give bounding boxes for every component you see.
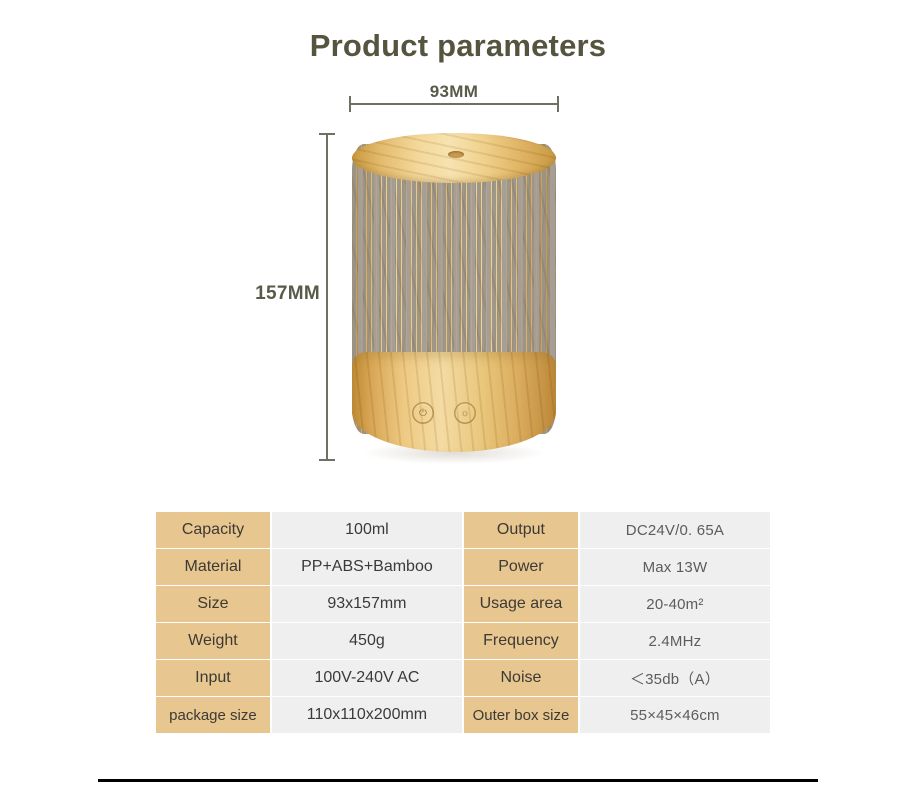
spec-label-package-size: package size [156, 697, 270, 733]
spec-label-frequency: Frequency [464, 623, 578, 659]
table-row: package size 110x110x200mm Outer box siz… [156, 697, 772, 733]
spec-label-outer-box-size: Outer box size [464, 697, 578, 733]
table-row: Capacity 100ml Output DC24V/0. 65A [156, 512, 772, 548]
spec-label-input: Input [156, 660, 270, 696]
product-image: ⏻ ☼ [350, 130, 558, 470]
product-top-lid [352, 133, 556, 183]
bottom-divider [98, 779, 818, 782]
spec-label-size: Size [156, 586, 270, 622]
spec-label-weight: Weight [156, 623, 270, 659]
width-dimension-cap-right [557, 96, 559, 112]
spec-value-input: 100V-240V AC [272, 660, 462, 696]
height-dimension-cap-bottom [319, 459, 335, 461]
spec-label-output: Output [464, 512, 578, 548]
lid-wood-grain-texture [352, 133, 556, 183]
width-dimension-line [349, 103, 559, 105]
light-bulb-icon: ☼ [454, 402, 476, 424]
table-row: Material PP+ABS+Bamboo Power Max 13W [156, 549, 772, 585]
spec-value-usage-area: 20-40m² [580, 586, 770, 622]
spec-value-capacity: 100ml [272, 512, 462, 548]
table-row: Size 93x157mm Usage area 20-40m² [156, 586, 772, 622]
page-title: Product parameters [0, 28, 916, 64]
spec-value-outer-box-size: 55×45×46cm [580, 697, 770, 733]
spec-label-material: Material [156, 549, 270, 585]
height-dimension-cap-top [319, 133, 335, 135]
spec-value-package-size: 110x110x200mm [272, 697, 462, 733]
spec-label-power: Power [464, 549, 578, 585]
spec-value-power: Max 13W [580, 549, 770, 585]
height-dimension-line [326, 134, 328, 461]
spec-value-noise: ＜35db（A） [580, 660, 770, 696]
mist-outlet-icon [448, 151, 464, 158]
spec-label-usage-area: Usage area [464, 586, 578, 622]
spec-label-capacity: Capacity [156, 512, 270, 548]
height-dimension-label: 157MM [232, 283, 320, 305]
spec-value-frequency: 2.4MHz [580, 623, 770, 659]
spec-table: Capacity 100ml Output DC24V/0. 65A Mater… [156, 512, 772, 734]
spec-value-weight: 450g [272, 623, 462, 659]
spec-value-material: PP+ABS+Bamboo [272, 549, 462, 585]
product-base [352, 352, 556, 452]
table-row: Weight 450g Frequency 2.4MHz [156, 623, 772, 659]
width-dimension-cap-left [349, 96, 351, 112]
base-wood-grain-texture [352, 352, 556, 452]
spec-value-size: 93x157mm [272, 586, 462, 622]
power-icon: ⏻ [412, 402, 434, 424]
spec-label-noise: Noise [464, 660, 578, 696]
width-dimension-label: 93MM [348, 82, 560, 102]
spec-value-output: DC24V/0. 65A [580, 512, 770, 548]
table-row: Input 100V-240V AC Noise ＜35db（A） [156, 660, 772, 696]
